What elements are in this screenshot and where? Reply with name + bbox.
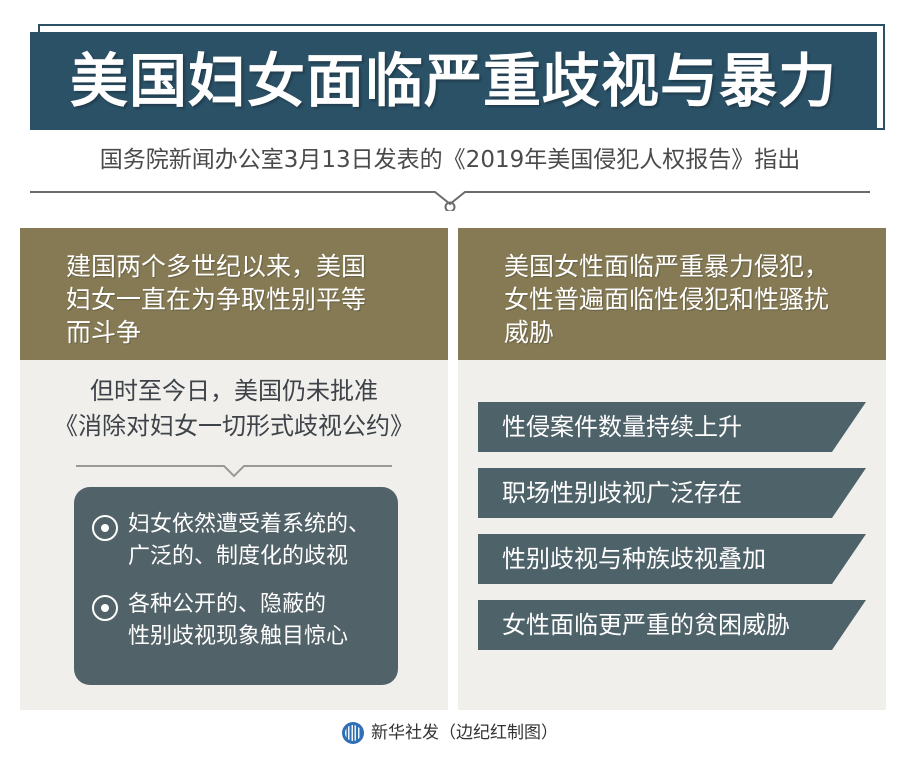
subtitle-text: 国务院新闻办公室3月13日发表的《2019年美国侵犯人权报告》指出 [30, 143, 870, 177]
banner-item-1: 性侵案件数量持续上升 [478, 402, 866, 452]
title-bar: 美国妇女面临严重歧视与暴力 [30, 32, 877, 130]
bullet-2-line-1: 各种公开的、隐蔽的 [128, 592, 326, 617]
left-header-line-1: 建国两个多世纪以来，美国 [66, 250, 422, 283]
list-item: 各种公开的、隐蔽的 性别歧视现象触目惊心 [92, 589, 382, 653]
banner-label-4: 女性面临更严重的贫困威胁 [502, 613, 790, 637]
bullet-1-line-1: 妇女依然遭受着系统的、 [128, 512, 370, 537]
left-intro-line-1: 但时至今日，美国仍未批准 [20, 374, 448, 409]
title-banner: 美国妇女面临严重歧视与暴力 [30, 24, 886, 134]
right-header-line-1: 美国女性面临严重暴力侵犯， [504, 250, 860, 283]
left-header-box: 建国两个多世纪以来，美国 妇女一直在为争取性别平等 而斗争 [20, 228, 448, 360]
double-circle-icon [92, 515, 118, 541]
bullet-text-2: 各种公开的、隐蔽的 性别歧视现象触目惊心 [128, 589, 348, 653]
double-circle-icon [92, 595, 118, 621]
left-header-line-3: 而斗争 [66, 316, 422, 349]
left-header-line-2: 妇女一直在为争取性别平等 [66, 283, 422, 316]
banner-item-4: 女性面临更严重的贫困威胁 [478, 600, 866, 650]
banner-label-3: 性别歧视与种族歧视叠加 [502, 547, 766, 571]
bullet-1-line-2: 广泛的、制度化的歧视 [128, 544, 348, 569]
subtitle-block: 国务院新闻办公室3月13日发表的《2019年美国侵犯人权报告》指出 [30, 143, 870, 177]
left-column-panel: 建国两个多世纪以来，美国 妇女一直在为争取性别平等 而斗争 但时至今日，美国仍未… [20, 228, 448, 710]
left-intro-line-2: 《消除对妇女一切形式歧视公约》 [20, 409, 448, 444]
right-header-line-3: 威胁 [504, 316, 860, 349]
left-bullet-card: 妇女依然遭受着系统的、 广泛的、制度化的歧视 各种公开的、隐蔽的 性别歧视现象触… [74, 487, 398, 685]
footer-credit: 新华社发（边纪红制图） [371, 725, 558, 742]
banner-item-3: 性别歧视与种族歧视叠加 [478, 534, 866, 584]
banner-label-1: 性侵案件数量持续上升 [502, 415, 742, 439]
left-intro-block: 但时至今日，美国仍未批准 《消除对妇女一切形式歧视公约》 [20, 374, 448, 444]
banner-item-2: 职场性别歧视广泛存在 [478, 468, 866, 518]
subtitle-divider [30, 189, 870, 211]
left-intro-divider [76, 464, 392, 478]
banner-label-2: 职场性别歧视广泛存在 [502, 481, 742, 505]
xinhua-logo-icon [342, 722, 364, 744]
list-item: 妇女依然遭受着系统的、 广泛的、制度化的歧视 [92, 509, 382, 573]
bullet-text-1: 妇女依然遭受着系统的、 广泛的、制度化的歧视 [128, 509, 370, 573]
bullet-2-line-2: 性别歧视现象触目惊心 [128, 624, 348, 649]
footer: 新华社发（边纪红制图） [0, 722, 900, 744]
right-column-panel: 美国女性面临严重暴力侵犯， 女性普遍面临性侵犯和性骚扰 威胁 性侵案件数量持续上… [458, 228, 886, 710]
right-header-box: 美国女性面临严重暴力侵犯， 女性普遍面临性侵犯和性骚扰 威胁 [458, 228, 886, 360]
page-title: 美国妇女面临严重歧视与暴力 [70, 52, 837, 110]
right-header-line-2: 女性普遍面临性侵犯和性骚扰 [504, 283, 860, 316]
